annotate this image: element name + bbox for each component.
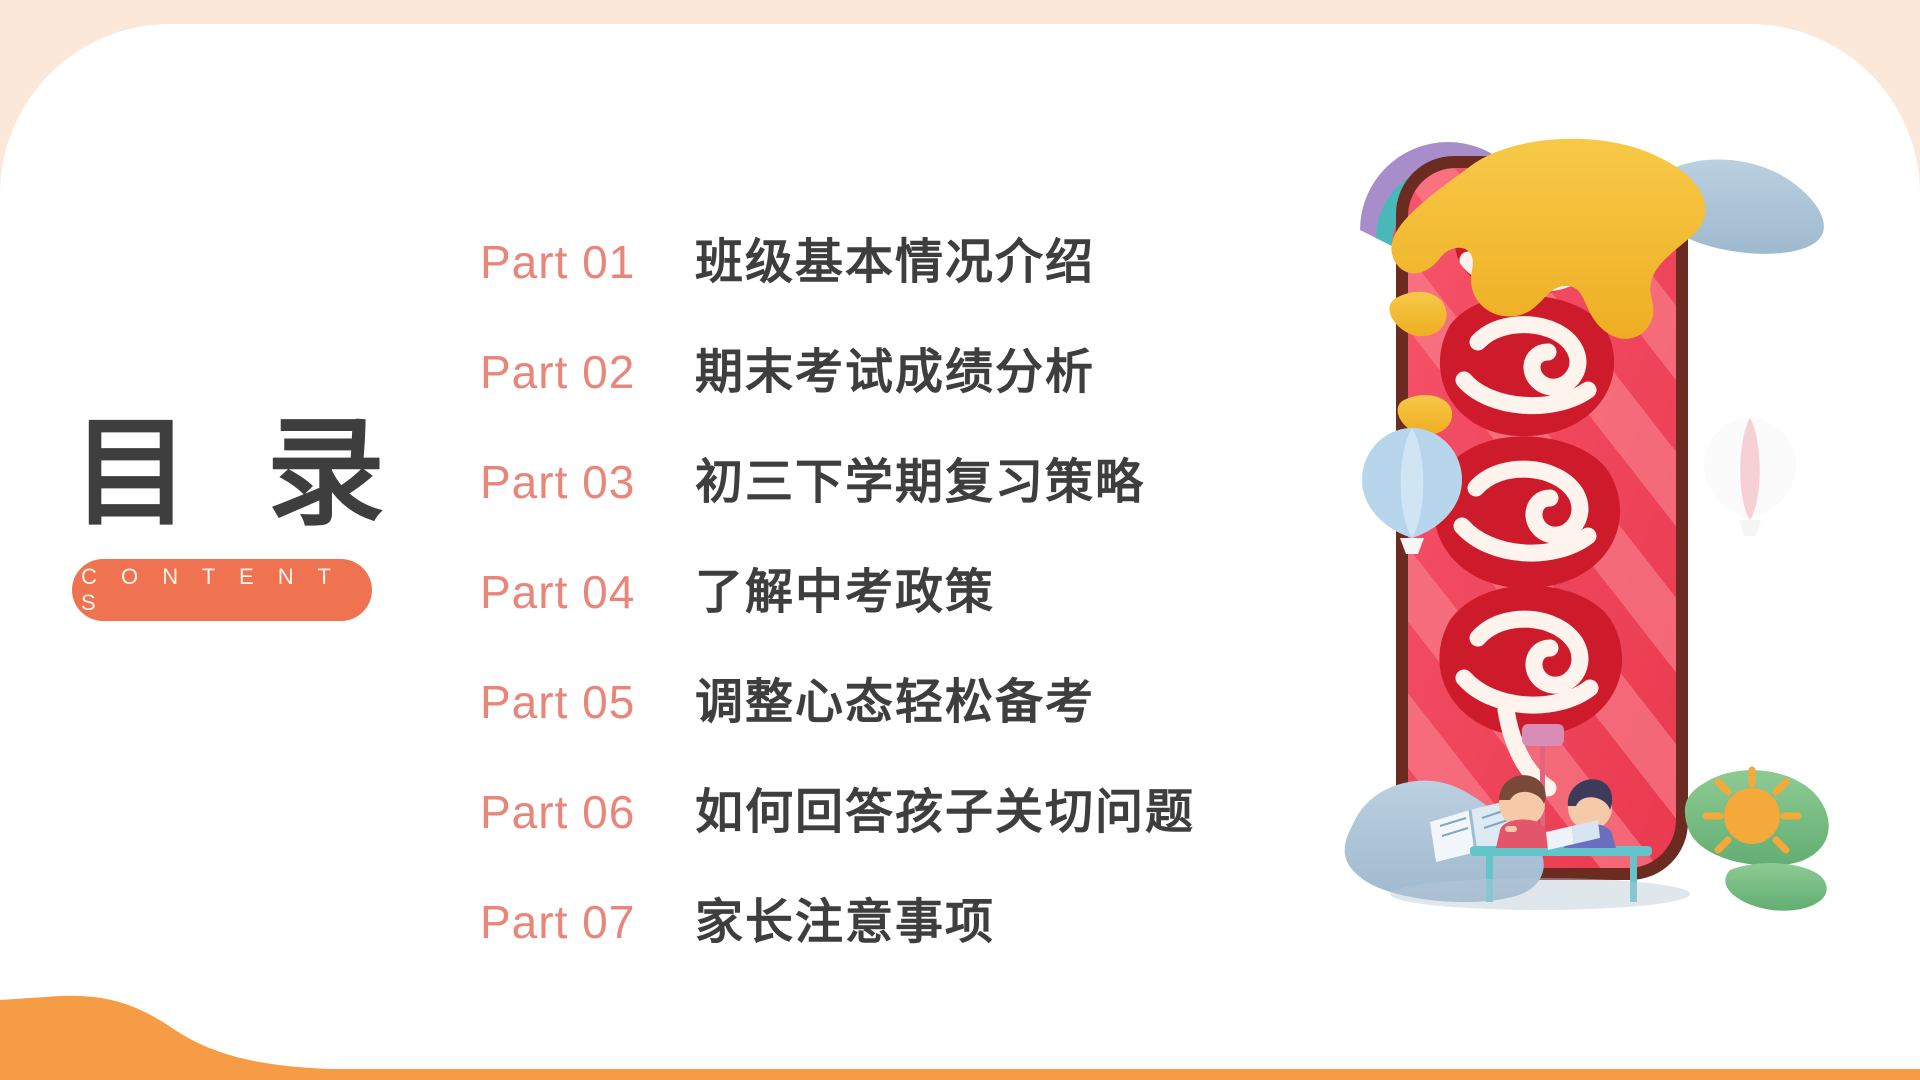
list-item[interactable]: Part 04 了解中考政策: [480, 552, 1310, 662]
list-item[interactable]: Part 05 调整心态轻松备考: [480, 662, 1310, 772]
winter-holiday-phone-illustration: [1300, 110, 1860, 950]
list-item[interactable]: Part 07 家长注意事项: [480, 882, 1310, 992]
toc-item-title: 家长注意事项: [695, 882, 995, 952]
toc-item-title: 了解中考政策: [695, 552, 995, 622]
toc-item-title: 班级基本情况介绍: [695, 222, 1095, 292]
contents-badge-label: C O N T E N T S: [72, 564, 372, 616]
list-item[interactable]: Part 03 初三下学期复习策略: [480, 442, 1310, 552]
page-title: 目 录: [72, 415, 442, 533]
toc-part-label: Part 04: [480, 565, 695, 619]
toc-item-title: 期末考试成绩分析: [695, 332, 1095, 402]
toc-item-title: 调整心态轻松备考: [695, 662, 1095, 732]
list-item[interactable]: Part 01 班级基本情况介绍: [480, 222, 1310, 332]
toc-item-title: 初三下学期复习策略: [695, 442, 1145, 512]
toc-part-label: Part 05: [480, 675, 695, 729]
toc-part-label: Part 02: [480, 345, 695, 399]
page-title-block: 目 录 C O N T E N T S: [72, 415, 442, 621]
toc-part-label: Part 06: [480, 785, 695, 839]
table-of-contents-list: Part 01 班级基本情况介绍 Part 02 期末考试成绩分析 Part 0…: [480, 222, 1310, 992]
toc-part-label: Part 01: [480, 235, 695, 289]
toc-part-label: Part 07: [480, 895, 695, 949]
child-left-illustration: [1496, 775, 1550, 848]
list-item[interactable]: Part 02 期末考试成绩分析: [480, 332, 1310, 442]
hot-air-balloon-right: [1704, 418, 1796, 536]
phone-shadow: [1390, 878, 1690, 910]
slide-root: 目 录 C O N T E N T S Part 01 班级基本情况介绍 Par…: [0, 0, 1920, 1080]
list-item[interactable]: Part 06 如何回答孩子关切问题: [480, 772, 1310, 882]
toc-part-label: Part 03: [480, 455, 695, 509]
toc-item-title: 如何回答孩子关切问题: [695, 772, 1195, 842]
contents-badge: C O N T E N T S: [72, 559, 372, 621]
